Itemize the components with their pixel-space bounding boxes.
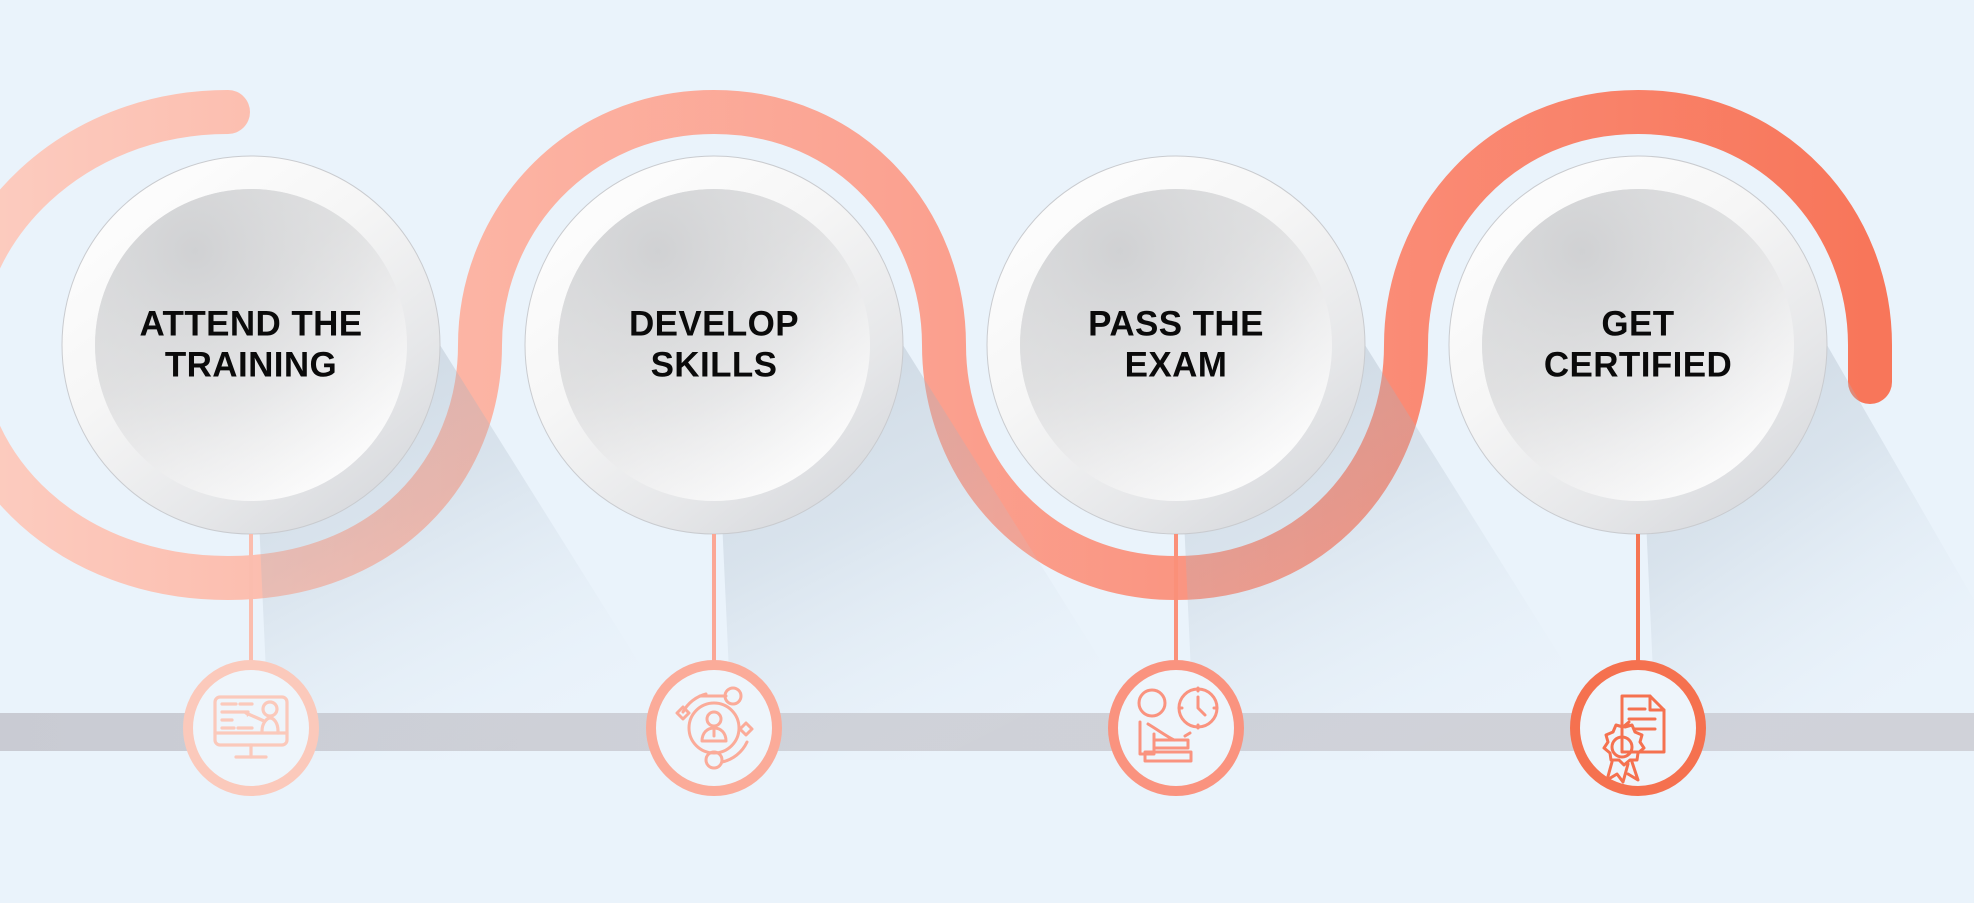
step-marker-attend-the-training[interactable] <box>188 665 314 791</box>
step-marker-get-certified[interactable] <box>1575 665 1701 791</box>
markers-layer <box>0 0 1974 903</box>
infographic-canvas: ATTEND THE TRAINING DEVELOP SKILLS PASS … <box>0 0 1974 903</box>
step-marker-develop-skills[interactable] <box>651 665 777 791</box>
step-marker-pass-the-exam[interactable] <box>1113 665 1239 791</box>
